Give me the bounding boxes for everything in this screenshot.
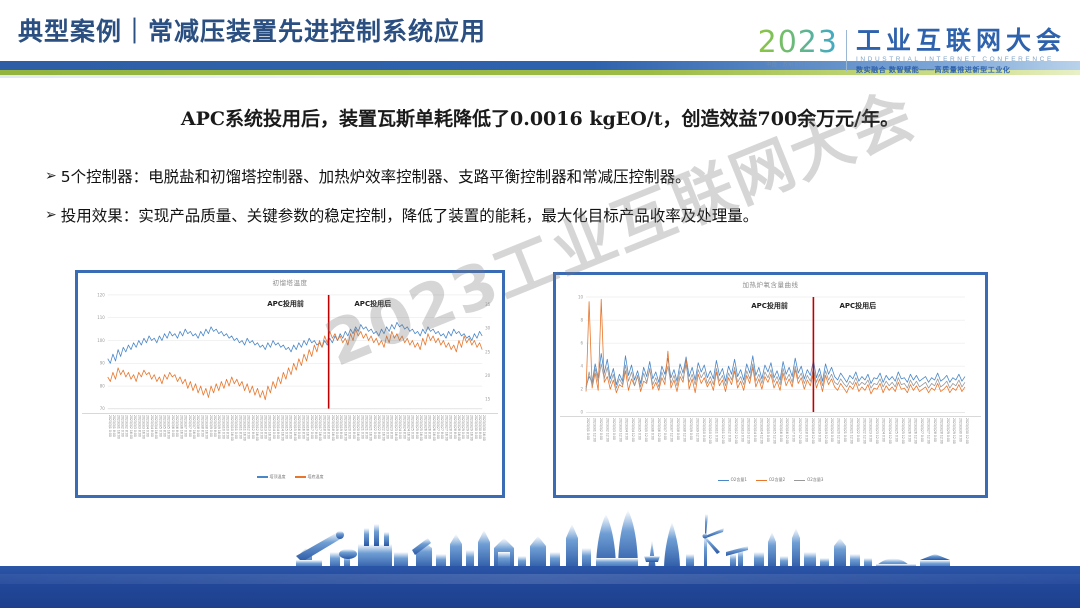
legend-item[interactable]: O2含量3 [794, 477, 823, 483]
x-axis-tick: 2023/3/29 0:00 [461, 415, 464, 439]
x-axis-tick: 2023/3/21 16:00 [369, 415, 372, 441]
x-axis-tick: 2023/3/26 8:00 [427, 415, 430, 439]
x-axis-tick: 2023/3/16 12:00 [785, 418, 788, 444]
legend-item[interactable]: 塔顶温度 [257, 474, 286, 480]
x-axis-tick: 2023/3/16 16:00 [305, 415, 308, 441]
x-axis-tick: 2023/3/8 12:00 [682, 418, 685, 442]
x-axis-tick: 2023/3/5 0:00 [158, 415, 161, 437]
svg-text:120: 120 [97, 292, 105, 297]
x-axis-tick: 2023/3/19 0:00 [817, 418, 820, 442]
x-axis-tick: 2023/3/17 12:00 [798, 418, 801, 444]
x-axis-tick: 2023/3/16 8:00 [301, 415, 304, 439]
x-axis-tick: 2023/3/7 16:00 [192, 415, 195, 439]
x-axis-tick: 2023/3/10 16:00 [230, 415, 233, 441]
logo-slogan: 数实融合 数智赋能——高质量推进新型工业化 [856, 65, 1066, 75]
x-axis-tick: 2023/3/7 0:00 [663, 418, 666, 440]
x-axis-tick: 2023/3/12 0:00 [727, 418, 730, 442]
svg-text:10: 10 [578, 294, 584, 299]
x-axis-tick: 2023/3/22 16:00 [381, 415, 384, 441]
x-axis-labels-right: 2023/3/1 0:002023/3/1 12:002023/3/2 0:00… [560, 416, 981, 475]
x-axis-tick: 2023/3/30 0:00 [959, 418, 962, 442]
legend-color-swatch [794, 480, 805, 482]
x-axis-tick: 2023/3/18 0:00 [804, 418, 807, 442]
x-axis-tick: 2023/3/16 0:00 [297, 415, 300, 439]
svg-text:90: 90 [100, 361, 106, 366]
phase-label-after: APC投用后 [839, 301, 876, 311]
svg-text:8: 8 [581, 317, 584, 322]
x-axis-tick: 2023/3/28 12:00 [939, 418, 942, 444]
svg-text:70: 70 [100, 406, 106, 411]
chart-panel-right: 加热炉氧含量曲线 1086420 APC投用前 APC投用后 2023/3/1 … [553, 272, 988, 498]
sea-band [0, 566, 1080, 608]
x-axis-tick: 2023/3/25 0:00 [894, 418, 897, 442]
x-axis-tick: 2023/3/26 12:00 [914, 418, 917, 444]
x-axis-tick: 2023/3/23 0:00 [385, 415, 388, 439]
x-axis-tick: 2023/3/24 0:00 [881, 418, 884, 442]
x-axis-tick: 2023/3/8 8:00 [200, 415, 203, 437]
x-axis-tick: 2023/3/16 0:00 [779, 418, 782, 442]
x-axis-tick: 2023/3/25 8:00 [415, 415, 418, 439]
x-axis-tick: 2023/3/22 8:00 [377, 415, 380, 439]
x-axis-tick: 2023/3/10 8:00 [226, 415, 229, 439]
x-axis-tick: 2023/3/21 8:00 [364, 415, 367, 439]
x-axis-tick: 2023/3/3 0:00 [612, 418, 615, 440]
bullet-text: 投用效果：实现产品质量、关键参数的稳定控制，降低了装置的能耗，最大化目标产品收率… [61, 207, 759, 226]
x-axis-tick: 2023/3/15 8:00 [289, 415, 292, 439]
x-axis-tick: 2023/3/28 8:00 [453, 415, 456, 439]
x-axis-tick: 2023/3/30 8:00 [478, 415, 481, 439]
legend-item[interactable]: O2含量2 [756, 477, 785, 483]
x-axis-labels-left: 2023/3/1 0:002023/3/1 8:002023/3/1 16:00… [82, 413, 498, 472]
x-axis-tick: 2023/3/9 12:00 [695, 418, 698, 442]
x-axis-tick: 2023/3/15 0:00 [766, 418, 769, 442]
x-axis-tick: 2023/3/6 16:00 [179, 415, 182, 439]
x-axis-tick: 2023/3/28 16:00 [457, 415, 460, 441]
x-axis-tick: 2023/3/2 8:00 [125, 415, 128, 437]
x-axis-tick: 2023/3/13 0:00 [259, 415, 262, 439]
x-axis-tick: 2023/3/18 8:00 [327, 415, 330, 439]
x-axis-tick: 2023/3/24 12:00 [888, 418, 891, 444]
x-axis-tick: 2023/3/4 16:00 [154, 415, 157, 439]
x-axis-tick: 2023/3/10 12:00 [708, 418, 711, 444]
x-axis-tick: 2023/3/30 16:00 [482, 415, 485, 441]
bullet-list: ➢ 5个控制器：电脱盐和初馏塔控制器、加热炉效率控制器、支路平衡控制器和常减压控… [45, 168, 1045, 247]
x-axis-tick: 2023/3/17 16:00 [318, 415, 321, 441]
x-axis-tick: 2023/3/11 16:00 [242, 415, 245, 441]
x-axis-tick: 2023/3/10 0:00 [221, 415, 224, 439]
x-axis-tick: 2023/3/23 16:00 [394, 415, 397, 441]
plot-area-right: 1086420 APC投用前 APC投用后 [560, 291, 981, 416]
chart-panel-left: 初馏塔温度 1201101009080703530252015 APC投用前 A… [75, 270, 505, 498]
x-axis-tick: 2023/3/4 12:00 [631, 418, 634, 442]
x-axis-tick: 2023/3/28 0:00 [448, 415, 451, 439]
svg-text:100: 100 [97, 338, 105, 343]
svg-text:4: 4 [581, 364, 584, 369]
x-axis-tick: 2023/3/3 12:00 [618, 418, 621, 442]
x-axis-tick: 2023/3/27 0:00 [920, 418, 923, 442]
x-axis-tick: 2023/3/13 8:00 [263, 415, 266, 439]
svg-text:80: 80 [100, 383, 106, 388]
x-axis-tick: 2023/3/9 16:00 [217, 415, 220, 439]
x-axis-tick: 2023/3/23 12:00 [875, 418, 878, 444]
svg-text:6: 6 [581, 341, 584, 346]
x-axis-tick: 2023/3/19 0:00 [335, 415, 338, 439]
x-axis-tick: 2023/3/12 16:00 [255, 415, 258, 441]
svg-text:15: 15 [485, 396, 491, 401]
x-axis-tick: 2023/3/12 0:00 [247, 415, 250, 439]
page-title: 典型案例｜常减压装置先进控制系统应用 [18, 12, 486, 48]
x-axis-tick: 2023/3/7 0:00 [183, 415, 186, 437]
x-axis-tick: 2023/3/19 8:00 [339, 415, 342, 439]
x-axis-tick: 2023/3/9 0:00 [689, 418, 692, 440]
bullet-text: 5个控制器：电脱盐和初馏塔控制器、加热炉效率控制器、支路平衡控制器和常减压控制器… [61, 168, 691, 187]
x-axis-tick: 2023/3/18 12:00 [811, 418, 814, 444]
svg-text:20: 20 [485, 373, 491, 378]
x-axis-tick: 2023/3/29 12:00 [952, 418, 955, 444]
logo-divider [846, 30, 847, 71]
x-axis-tick: 2023/3/23 0:00 [869, 418, 872, 442]
plot-area-left: 1201101009080703530252015 APC投用前 APC投用后 [82, 289, 498, 413]
x-axis-tick: 2023/3/20 8:00 [352, 415, 355, 439]
svg-text:35: 35 [485, 302, 491, 307]
x-axis-tick: 2023/3/1 0:00 [586, 418, 589, 440]
x-axis-tick: 2023/3/22 0:00 [373, 415, 376, 439]
x-axis-tick: 2023/3/13 16:00 [268, 415, 271, 441]
svg-text:30: 30 [485, 326, 491, 331]
x-axis-tick: 2023/3/23 8:00 [390, 415, 393, 439]
conference-logo: 2023 中国 · 苏州 8月18日-19日 工业互联网大会 INDUSTRIA… [758, 28, 1066, 75]
x-axis-tick: 2023/3/2 0:00 [599, 418, 602, 440]
list-item: ➢ 5个控制器：电脱盐和初馏塔控制器、加热炉效率控制器、支路平衡控制器和常减压控… [45, 168, 1045, 187]
x-axis-tick: 2023/3/27 12:00 [926, 418, 929, 444]
list-item: ➢ 投用效果：实现产品质量、关键参数的稳定控制，降低了装置的能耗，最大化目标产品… [45, 207, 1045, 226]
x-axis-tick: 2023/3/8 0:00 [196, 415, 199, 437]
x-axis-tick: 2023/3/3 0:00 [133, 415, 136, 437]
x-axis-tick: 2023/3/13 0:00 [740, 418, 743, 442]
x-axis-tick: 2023/3/26 0:00 [907, 418, 910, 442]
x-axis-tick: 2023/3/14 0:00 [753, 418, 756, 442]
x-axis-tick: 2023/3/20 16:00 [356, 415, 359, 441]
x-axis-tick: 2023/3/12 12:00 [734, 418, 737, 444]
x-axis-tick: 2023/3/4 0:00 [625, 418, 628, 440]
x-axis-tick: 2023/3/27 8:00 [440, 415, 443, 439]
x-axis-tick: 2023/3/9 0:00 [209, 415, 212, 437]
legend-item[interactable]: 塔底温度 [295, 474, 324, 480]
x-axis-tick: 2023/3/27 0:00 [436, 415, 439, 439]
x-axis-tick: 2023/3/8 0:00 [676, 418, 679, 440]
chart-legend-left: 塔顶温度塔底温度 [78, 474, 502, 480]
x-axis-tick: 2023/3/20 12:00 [837, 418, 840, 444]
x-axis-tick: 2023/3/21 12:00 [849, 418, 852, 444]
x-axis-tick: 2023/3/11 12:00 [721, 418, 724, 444]
x-axis-tick: 2023/3/6 12:00 [657, 418, 660, 442]
x-axis-tick: 2023/3/11 0:00 [715, 418, 718, 442]
x-axis-tick: 2023/3/17 8:00 [314, 415, 317, 439]
x-axis-tick: 2023/3/9 8:00 [213, 415, 216, 437]
x-axis-tick: 2023/3/30 12:00 [965, 418, 968, 444]
x-axis-tick: 2023/3/6 0:00 [650, 418, 653, 440]
x-axis-tick: 2023/3/17 0:00 [792, 418, 795, 442]
x-axis-tick: 2023/3/13 12:00 [747, 418, 750, 444]
x-axis-tick: 2023/3/29 8:00 [465, 415, 468, 439]
x-axis-tick: 2023/3/11 0:00 [234, 415, 237, 439]
x-axis-tick: 2023/3/15 0:00 [284, 415, 287, 439]
chart-legend-right: O2含量1O2含量2O2含量3 [556, 477, 985, 483]
x-axis-tick: 2023/3/20 0:00 [348, 415, 351, 439]
x-axis-tick: 2023/3/4 8:00 [150, 415, 153, 437]
x-axis-tick: 2023/3/11 8:00 [238, 415, 241, 439]
x-axis-tick: 2023/3/14 12:00 [759, 418, 762, 444]
legend-color-swatch [295, 476, 306, 478]
x-axis-tick: 2023/3/12 8:00 [251, 415, 254, 439]
x-axis-tick: 2023/3/4 0:00 [146, 415, 149, 437]
x-axis-tick: 2023/3/15 12:00 [772, 418, 775, 444]
logo-year-block: 2023 中国 · 苏州 8月18日-19日 [758, 28, 846, 68]
footer-graphic [0, 508, 1080, 608]
city-skyline-icon [0, 508, 1080, 570]
x-axis-tick: 2023/3/26 0:00 [423, 415, 426, 439]
x-axis-tick: 2023/3/6 0:00 [171, 415, 174, 437]
x-axis-tick: 2023/3/5 12:00 [644, 418, 647, 442]
phase-label-before: APC投用前 [751, 301, 788, 311]
x-axis-tick: 2023/3/14 8:00 [276, 415, 279, 439]
x-axis-tick: 2023/3/1 16:00 [116, 415, 119, 439]
bullet-marker-icon: ➢ [45, 168, 57, 186]
x-axis-tick: 2023/3/26 16:00 [432, 415, 435, 441]
x-axis-tick: 2023/3/3 8:00 [137, 415, 140, 437]
svg-text:2: 2 [581, 387, 584, 392]
x-axis-tick: 2023/3/22 0:00 [856, 418, 859, 442]
phase-label-after: APC投用后 [354, 299, 391, 309]
x-axis-tick: 2023/3/18 16:00 [331, 415, 334, 441]
logo-text-block: 工业互联网大会 INDUSTRIAL INTERNET CONFERENCE 数… [856, 28, 1066, 75]
x-axis-tick: 2023/3/24 8:00 [402, 415, 405, 439]
x-axis-tick: 2023/3/29 0:00 [946, 418, 949, 442]
x-axis-tick: 2023/3/2 12:00 [605, 418, 608, 442]
x-axis-tick: 2023/3/28 0:00 [933, 418, 936, 442]
legend-color-swatch [756, 480, 767, 482]
x-axis-tick: 2023/3/15 16:00 [293, 415, 296, 441]
x-axis-tick: 2023/3/22 12:00 [862, 418, 865, 444]
legend-label: 塔顶温度 [270, 474, 286, 480]
x-axis-tick: 2023/3/5 16:00 [167, 415, 170, 439]
x-axis-tick: 2023/3/5 0:00 [637, 418, 640, 440]
x-axis-tick: 2023/3/21 0:00 [360, 415, 363, 439]
x-axis-tick: 2023/3/7 8:00 [188, 415, 191, 437]
legend-label: O2含量1 [731, 477, 747, 483]
x-axis-tick: 2023/3/30 0:00 [474, 415, 477, 439]
x-axis-tick: 2023/3/1 8:00 [112, 415, 115, 437]
x-axis-tick: 2023/3/24 0:00 [398, 415, 401, 439]
x-axis-tick: 2023/3/3 16:00 [141, 415, 144, 439]
x-axis-tick: 2023/3/17 0:00 [310, 415, 313, 439]
x-axis-tick: 2023/3/6 8:00 [175, 415, 178, 437]
x-axis-tick: 2023/3/2 16:00 [129, 415, 132, 439]
x-axis-tick: 2023/3/10 0:00 [702, 418, 705, 442]
logo-conference-name-en: INDUSTRIAL INTERNET CONFERENCE [856, 56, 1066, 63]
legend-item[interactable]: O2含量1 [718, 477, 747, 483]
x-axis-tick: 2023/3/27 16:00 [444, 415, 447, 441]
legend-label: O2含量3 [807, 477, 823, 483]
logo-year: 2023 [758, 28, 838, 58]
bullet-marker-icon: ➢ [45, 207, 57, 225]
x-axis-tick: 2023/3/24 16:00 [406, 415, 409, 441]
svg-text:110: 110 [97, 315, 105, 320]
phase-label-before: APC投用前 [267, 299, 304, 309]
svg-text:25: 25 [485, 349, 491, 354]
logo-year-subtitle: 中国 · 苏州 8月18日-19日 [766, 61, 829, 68]
x-axis-tick: 2023/3/19 16:00 [343, 415, 346, 441]
x-axis-tick: 2023/3/20 0:00 [830, 418, 833, 442]
headline-statement: APC系统投用后，装置瓦斯单耗降低了0.0016 kgEO/t，创造效益700余… [0, 104, 1080, 131]
x-axis-tick: 2023/3/29 16:00 [470, 415, 473, 441]
x-axis-tick: 2023/3/25 0:00 [411, 415, 414, 439]
legend-label: 塔底温度 [308, 474, 324, 480]
chart-title: 初馏塔温度 [78, 277, 502, 287]
chart-title: 加热炉氧含量曲线 [556, 279, 985, 289]
x-axis-tick: 2023/3/14 16:00 [280, 415, 283, 441]
legend-color-swatch [257, 476, 268, 478]
legend-color-swatch [718, 480, 729, 482]
x-axis-tick: 2023/3/5 8:00 [162, 415, 165, 437]
x-axis-tick: 2023/3/2 0:00 [120, 415, 123, 437]
x-axis-tick: 2023/3/1 12:00 [592, 418, 595, 442]
x-axis-tick: 2023/3/1 0:00 [108, 415, 111, 437]
x-axis-tick: 2023/3/8 16:00 [205, 415, 208, 439]
x-axis-tick: 2023/3/18 0:00 [322, 415, 325, 439]
x-axis-tick: 2023/3/19 12:00 [824, 418, 827, 444]
logo-conference-name-cn: 工业互联网大会 [856, 28, 1066, 53]
legend-label: O2含量2 [769, 477, 785, 483]
x-axis-tick: 2023/3/7 12:00 [670, 418, 673, 442]
x-axis-tick: 2023/3/25 16:00 [419, 415, 422, 441]
x-axis-tick: 2023/3/21 0:00 [843, 418, 846, 442]
sea-sheen [0, 574, 1080, 584]
header-rule-fade [0, 75, 1080, 78]
x-axis-tick: 2023/3/25 12:00 [901, 418, 904, 444]
x-axis-tick: 2023/3/14 0:00 [272, 415, 275, 439]
svg-text:0: 0 [581, 410, 584, 415]
